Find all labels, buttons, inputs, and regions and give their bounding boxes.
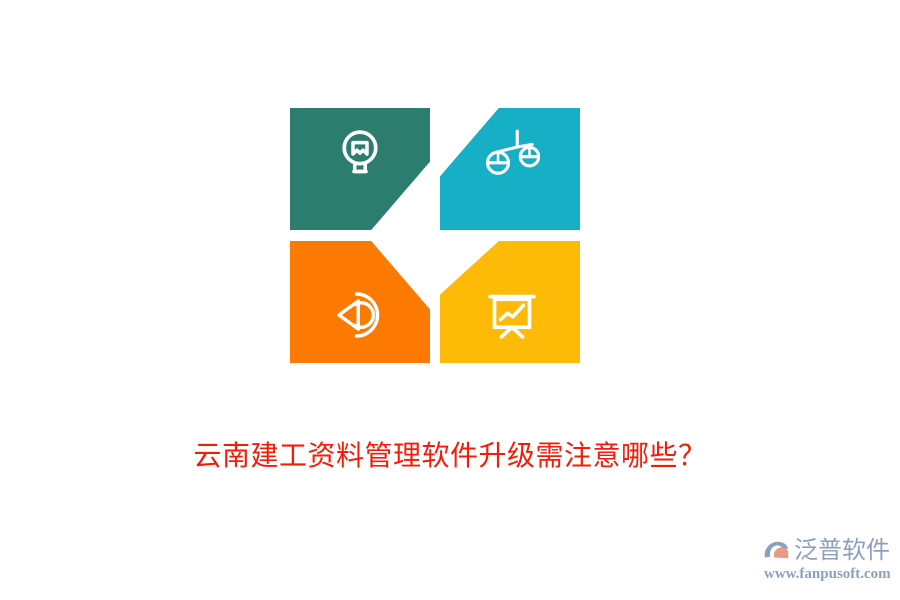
quadrant-bottom-left	[290, 241, 430, 363]
lightbulb-icon	[332, 126, 388, 182]
quadrant-bottom-right	[440, 241, 580, 363]
fanpu-logo-icon	[762, 536, 792, 564]
pie-chart-icon	[332, 287, 388, 343]
watermark-brand-text: 泛普软件	[794, 536, 890, 564]
balance-scales-icon	[484, 126, 540, 182]
four-quadrant-pinwheel-graphic	[290, 108, 580, 363]
presentation-chart-icon	[484, 287, 540, 343]
quadrant-top-right	[440, 108, 580, 230]
watermark: 泛普软件 www.fanpusoft.com	[762, 534, 894, 586]
watermark-url: www.fanpusoft.com	[764, 565, 891, 583]
watermark-brand-row: 泛普软件	[762, 534, 890, 566]
quadrant-top-left	[290, 108, 430, 230]
page-title: 云南建工资料管理软件升级需注意哪些？	[0, 436, 900, 476]
